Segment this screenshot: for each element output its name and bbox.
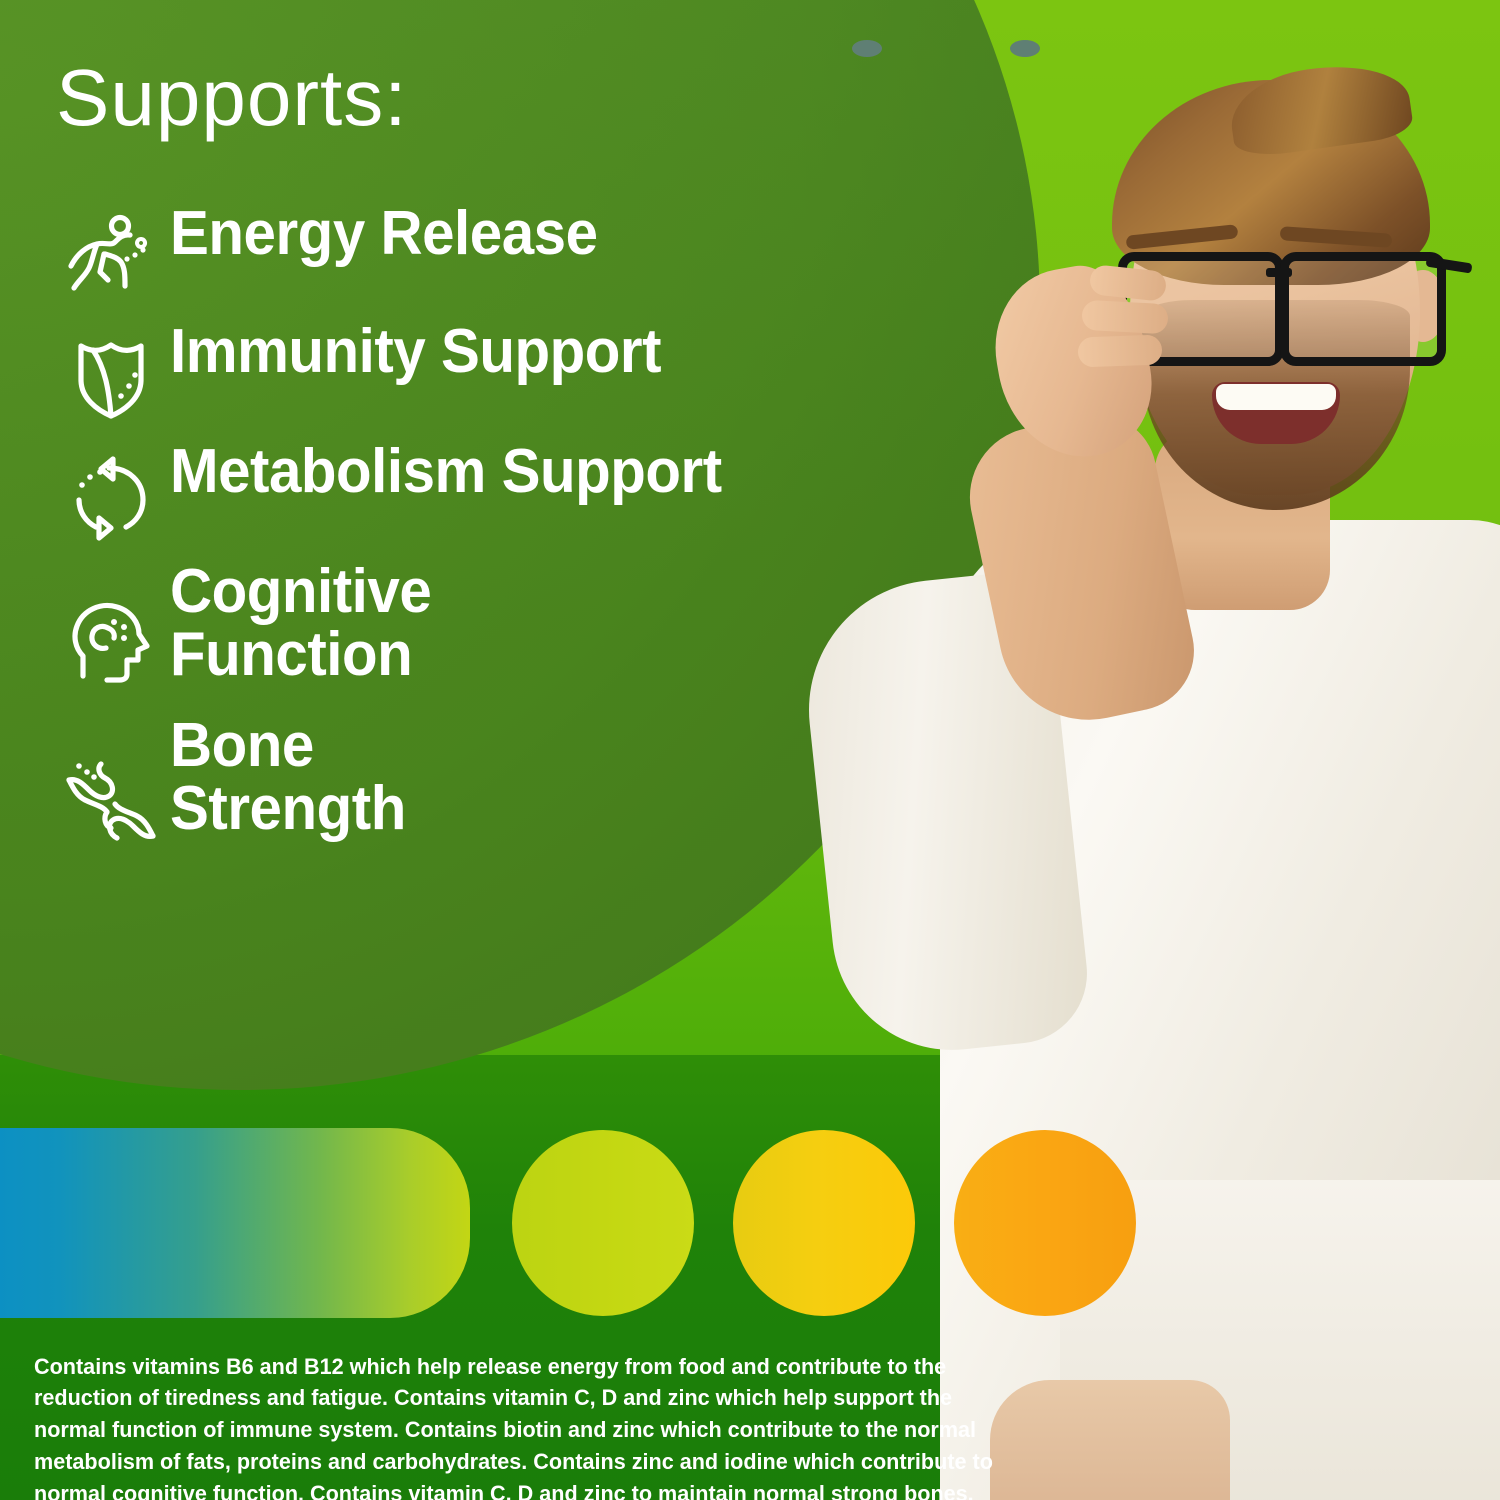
finger-3 xyxy=(1078,335,1163,368)
benefit-label: Energy Release xyxy=(170,196,598,265)
page-title: Supports: xyxy=(56,58,407,138)
head-brain-icon xyxy=(52,552,170,690)
teeth xyxy=(1216,384,1336,410)
eye-right xyxy=(1010,40,1040,57)
orange-dot xyxy=(954,1130,1136,1316)
waist-skin xyxy=(990,1380,1230,1500)
benefit-list: Energy Release Immunity Support xyxy=(52,196,992,850)
benefit-item-bone-strength: Bone Strength xyxy=(52,696,992,844)
benefit-item-cognitive-function: Cognitive Function xyxy=(52,552,992,690)
glasses-bridge xyxy=(1266,268,1292,277)
finger-2 xyxy=(1081,300,1168,334)
bone-joint-icon xyxy=(52,696,170,844)
metabolism-arrows-icon xyxy=(52,430,170,546)
benefit-label: Bone Strength xyxy=(170,696,406,840)
shield-icon xyxy=(52,312,170,424)
benefit-item-metabolism-support: Metabolism Support xyxy=(52,430,992,546)
yellow-dot xyxy=(733,1130,915,1316)
eye-left xyxy=(852,40,882,57)
benefit-item-immunity-support: Immunity Support xyxy=(52,312,992,424)
lime-dot xyxy=(512,1130,694,1316)
disclaimer-text: Contains vitamins B6 and B12 which help … xyxy=(34,1351,994,1500)
benefit-label: Immunity Support xyxy=(170,312,661,383)
blue-to-green-gradient-pill xyxy=(0,1128,470,1318)
color-accent-bar xyxy=(0,1128,1120,1318)
lens-right xyxy=(1280,252,1446,366)
running-person-icon xyxy=(52,196,170,306)
benefit-item-energy-release: Energy Release xyxy=(52,196,992,306)
benefit-label: Cognitive Function xyxy=(170,552,431,686)
benefit-label: Metabolism Support xyxy=(170,430,722,503)
promo-banner: Supports: Energy Release xyxy=(0,0,1500,1500)
